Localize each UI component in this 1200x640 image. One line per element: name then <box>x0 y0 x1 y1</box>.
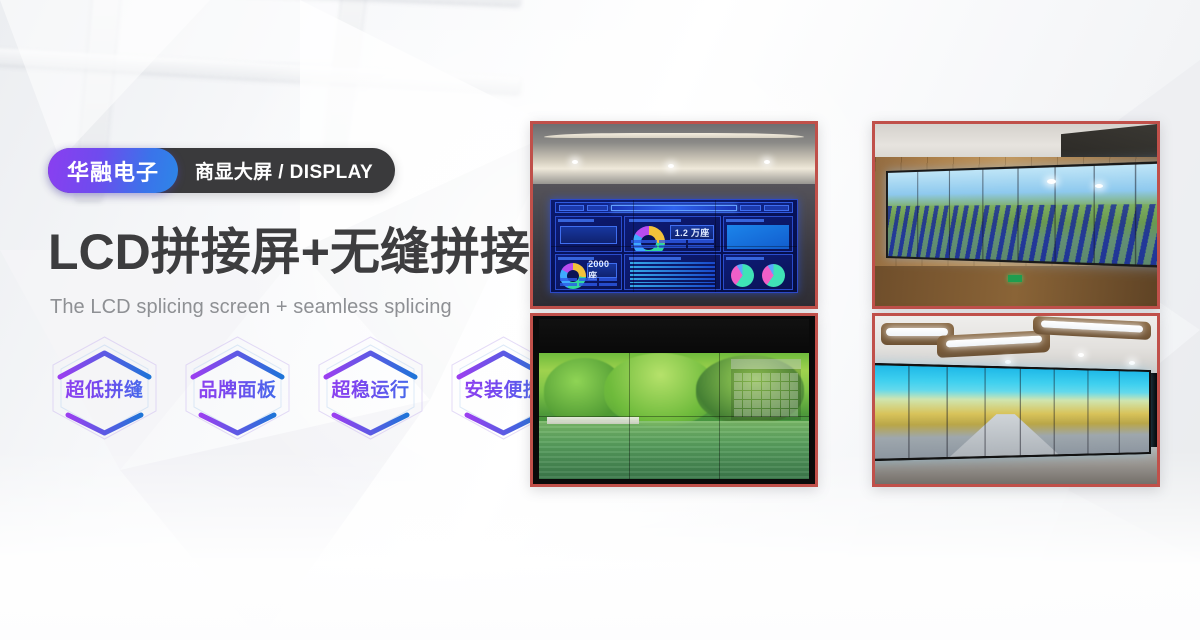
kpi-value-2: 2000 座 <box>587 263 617 277</box>
feature-badge-list: 超低拼缝 品牌面板 <box>48 333 560 443</box>
brand-name: 华融电子 <box>48 148 178 193</box>
kpi-value-1: 1.2 万座 <box>670 225 713 239</box>
promo-banner: 华融电子 商显大屏 / DISPLAY LCD拼接屏+无缝拼接 The LCD … <box>0 0 1200 640</box>
brand-badge: 华融电子 商显大屏 / DISPLAY <box>48 148 395 193</box>
brand-category: 商显大屏 / DISPLAY <box>178 148 395 193</box>
video-wall-screen: 1.2 万座 2000 座 <box>550 199 798 294</box>
video-wall-screen <box>886 161 1157 269</box>
feature-badge[interactable]: 品牌面板 <box>181 333 294 443</box>
feature-label: 超稳运行 <box>314 333 427 443</box>
feature-label: 超低拼缝 <box>48 333 161 443</box>
video-wall-screen <box>539 353 810 479</box>
page-subtitle: The LCD splicing screen + seamless splic… <box>50 296 570 319</box>
feature-label: 品牌面板 <box>181 333 294 443</box>
page-title: LCD拼接屏+无缝拼接 <box>48 226 568 278</box>
product-photo-willow-wall[interactable] <box>530 313 818 487</box>
feature-badge[interactable]: 超稳运行 <box>314 333 427 443</box>
product-photo-dashboard[interactable]: 1.2 万座 2000 座 <box>530 121 818 309</box>
exit-sign-icon <box>1008 275 1022 282</box>
screen-seams <box>539 353 810 479</box>
product-photo-beach-wall[interactable] <box>872 313 1160 487</box>
video-wall-screen <box>875 361 1151 462</box>
product-photo-solar-wall[interactable] <box>872 121 1160 309</box>
feature-badge[interactable]: 超低拼缝 <box>48 333 161 443</box>
banner-text-column: 华融电子 商显大屏 / DISPLAY LCD拼接屏+无缝拼接 The LCD … <box>48 0 518 640</box>
